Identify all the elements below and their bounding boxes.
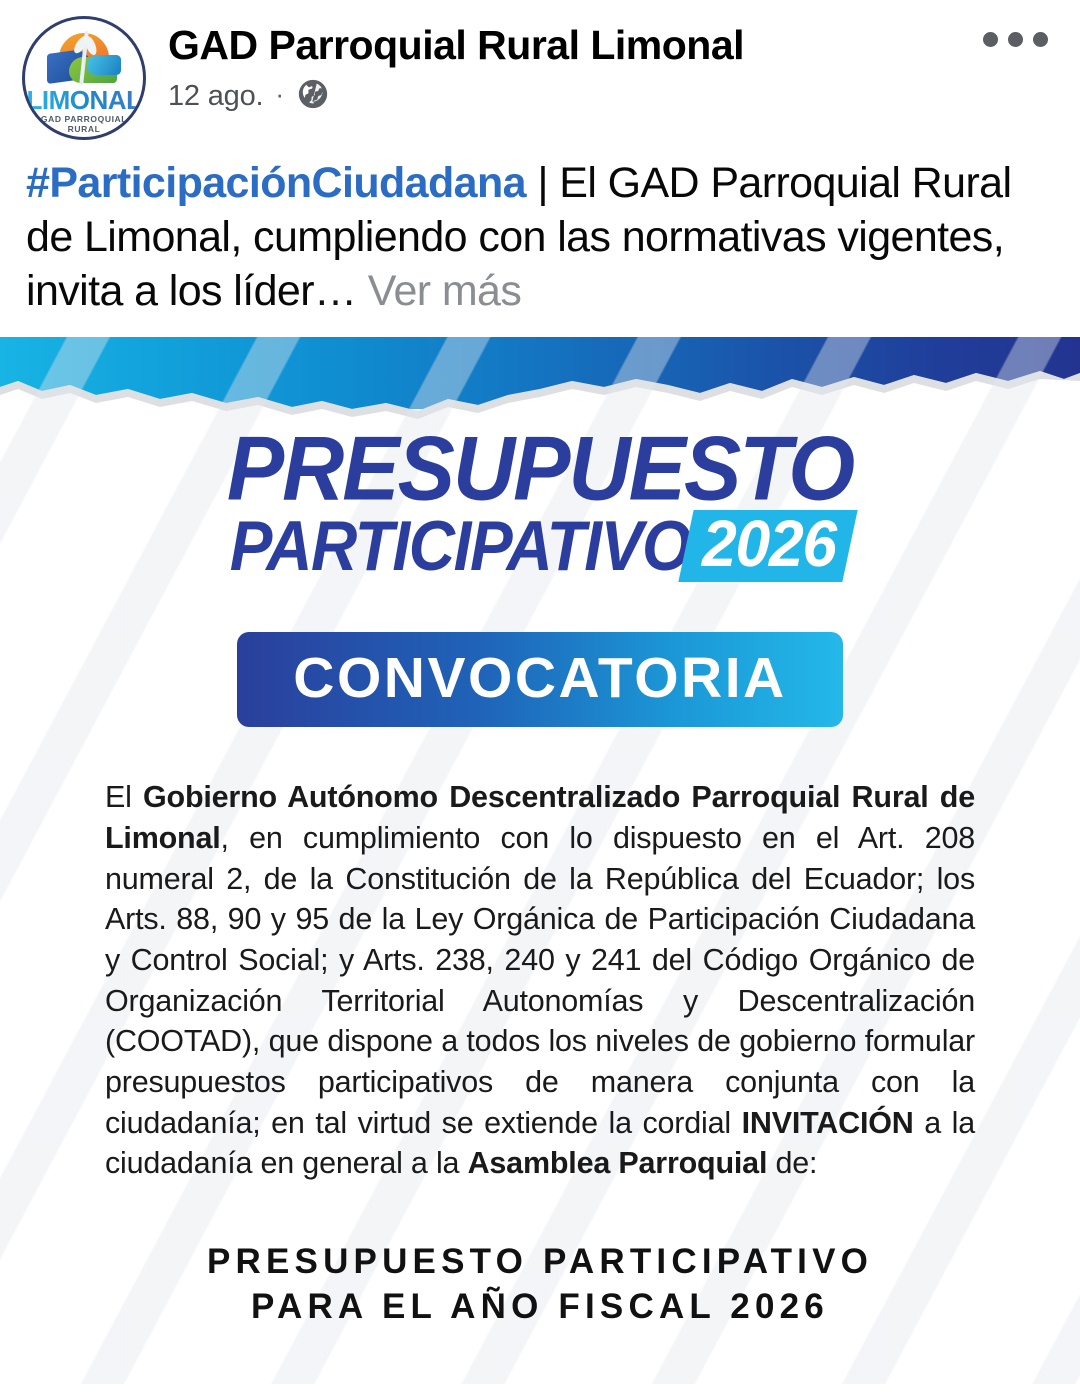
avatar-brand-name: LIMONAL	[25, 85, 143, 116]
poster-title-line2-group: PARTICIPATIVO 2026	[230, 512, 851, 580]
post-meta-row: 12 ago. ·	[168, 77, 1058, 116]
facebook-post: LIMONAL GAD PARROQUIAL RURAL GAD Parroqu…	[0, 0, 1080, 1398]
poster-subject-heading: PRESUPUESTO PARTICIPATIVO PARA EL AÑO FI…	[0, 1240, 1080, 1330]
post-header: LIMONAL GAD PARROQUIAL RURAL GAD Parroqu…	[0, 0, 1080, 148]
globe-icon[interactable]	[296, 77, 330, 116]
post-timestamp[interactable]: 12 ago.	[168, 80, 263, 113]
hashtag-link[interactable]: #ParticipaciónCiudadana	[26, 159, 526, 207]
header-text-block: GAD Parroquial Rural Limonal 12 ago. ·	[146, 14, 1058, 116]
avatar-brand-subtitle: GAD PARROQUIAL RURAL	[25, 114, 143, 134]
more-dot	[1033, 32, 1048, 47]
limonal-emblem-icon	[47, 33, 121, 81]
post-message: #ParticipaciónCiudadana | El GAD Parroqu…	[0, 148, 1080, 319]
paragraph-part-2: , en cumplimiento con lo dispuesto en el…	[105, 821, 975, 1140]
avatar[interactable]: LIMONAL GAD PARROQUIAL RURAL	[22, 16, 146, 140]
subject-line-2: PARA EL AÑO FISCAL 2026	[0, 1285, 1080, 1330]
truncation-ellipsis: …	[314, 267, 356, 315]
convocatoria-badge: CONVOCATORIA	[237, 632, 842, 727]
paragraph-bold-2: INVITACIÓN	[742, 1106, 914, 1140]
hill-cyan-shape	[87, 55, 121, 75]
poster-content: PRESUPUESTO PARTICIPATIVO 2026 CONVOCATO…	[0, 337, 1080, 1384]
poster-title-year: 2026	[702, 514, 837, 576]
paragraph-bold-3: Asamblea Parroquial	[468, 1146, 768, 1180]
subject-line-1: PRESUPUESTO PARTICIPATIVO	[0, 1240, 1080, 1285]
page-title[interactable]: GAD Parroquial Rural Limonal	[168, 24, 1058, 67]
poster-title-year-badge: 2026	[679, 510, 858, 582]
convocatoria-badge-wrap: CONVOCATORIA	[0, 632, 1080, 727]
paragraph-part-1: El	[105, 780, 143, 814]
poster-title-lockup: PRESUPUESTO PARTICIPATIVO 2026	[0, 429, 1080, 581]
poster-paragraph: El Gobierno Autónomo Descentralizado Par…	[105, 777, 975, 1184]
poster-title-line1: PRESUPUESTO	[40, 426, 1040, 513]
paragraph-part-4: de:	[767, 1146, 817, 1180]
more-dot	[983, 32, 998, 47]
ellipsis-horizontal-icon[interactable]	[977, 26, 1054, 53]
post-image-poster[interactable]: PRESUPUESTO PARTICIPATIVO 2026 CONVOCATO…	[0, 337, 1080, 1384]
more-dot	[1008, 32, 1023, 47]
see-more-link[interactable]: Ver más	[368, 267, 522, 315]
poster-title-line2: PARTICIPATIVO	[230, 513, 691, 580]
meta-separator-dot: ·	[275, 81, 284, 107]
